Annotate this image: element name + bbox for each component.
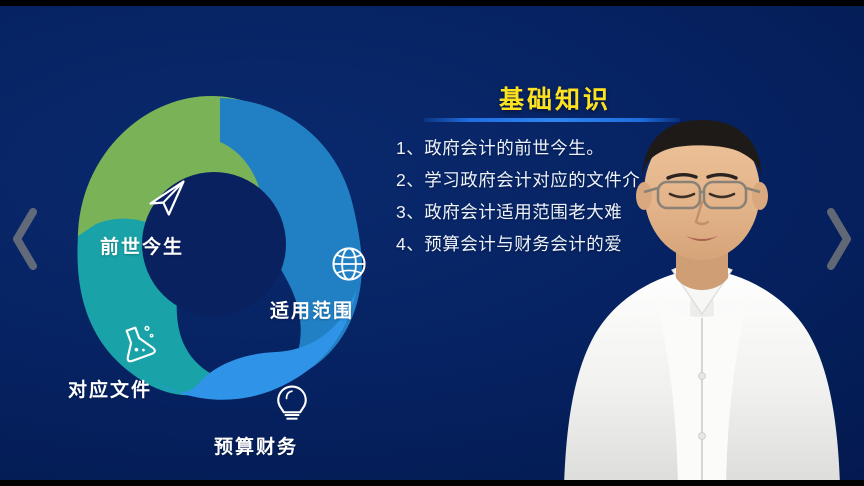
segment-label-budget-finance: 预算财务 <box>214 432 298 459</box>
presenter-video-overlay <box>536 118 864 480</box>
next-slide-chevron-icon[interactable] <box>822 206 856 272</box>
slide-title: 基础知识 <box>420 80 690 116</box>
previous-slide-chevron-icon[interactable] <box>8 206 42 272</box>
donut-segments <box>48 84 378 404</box>
segment-label-documents: 对应文件 <box>68 375 152 402</box>
letterbox-bar-top <box>0 0 864 6</box>
segment-label-scope: 适用范围 <box>270 296 354 323</box>
video-player-stage: 前世今生 适用范围 对应文件 预算财务 基础知识 1、政府会计的前世今生。 2、… <box>0 0 864 486</box>
slide-canvas: 前世今生 适用范围 对应文件 预算财务 基础知识 1、政府会计的前世今生。 2、… <box>0 6 864 480</box>
letterbox-bar-bottom <box>0 480 864 486</box>
donut-infographic: 前世今生 适用范围 对应文件 预算财务 <box>48 84 378 404</box>
segment-label-previous-life: 前世今生 <box>100 232 184 259</box>
